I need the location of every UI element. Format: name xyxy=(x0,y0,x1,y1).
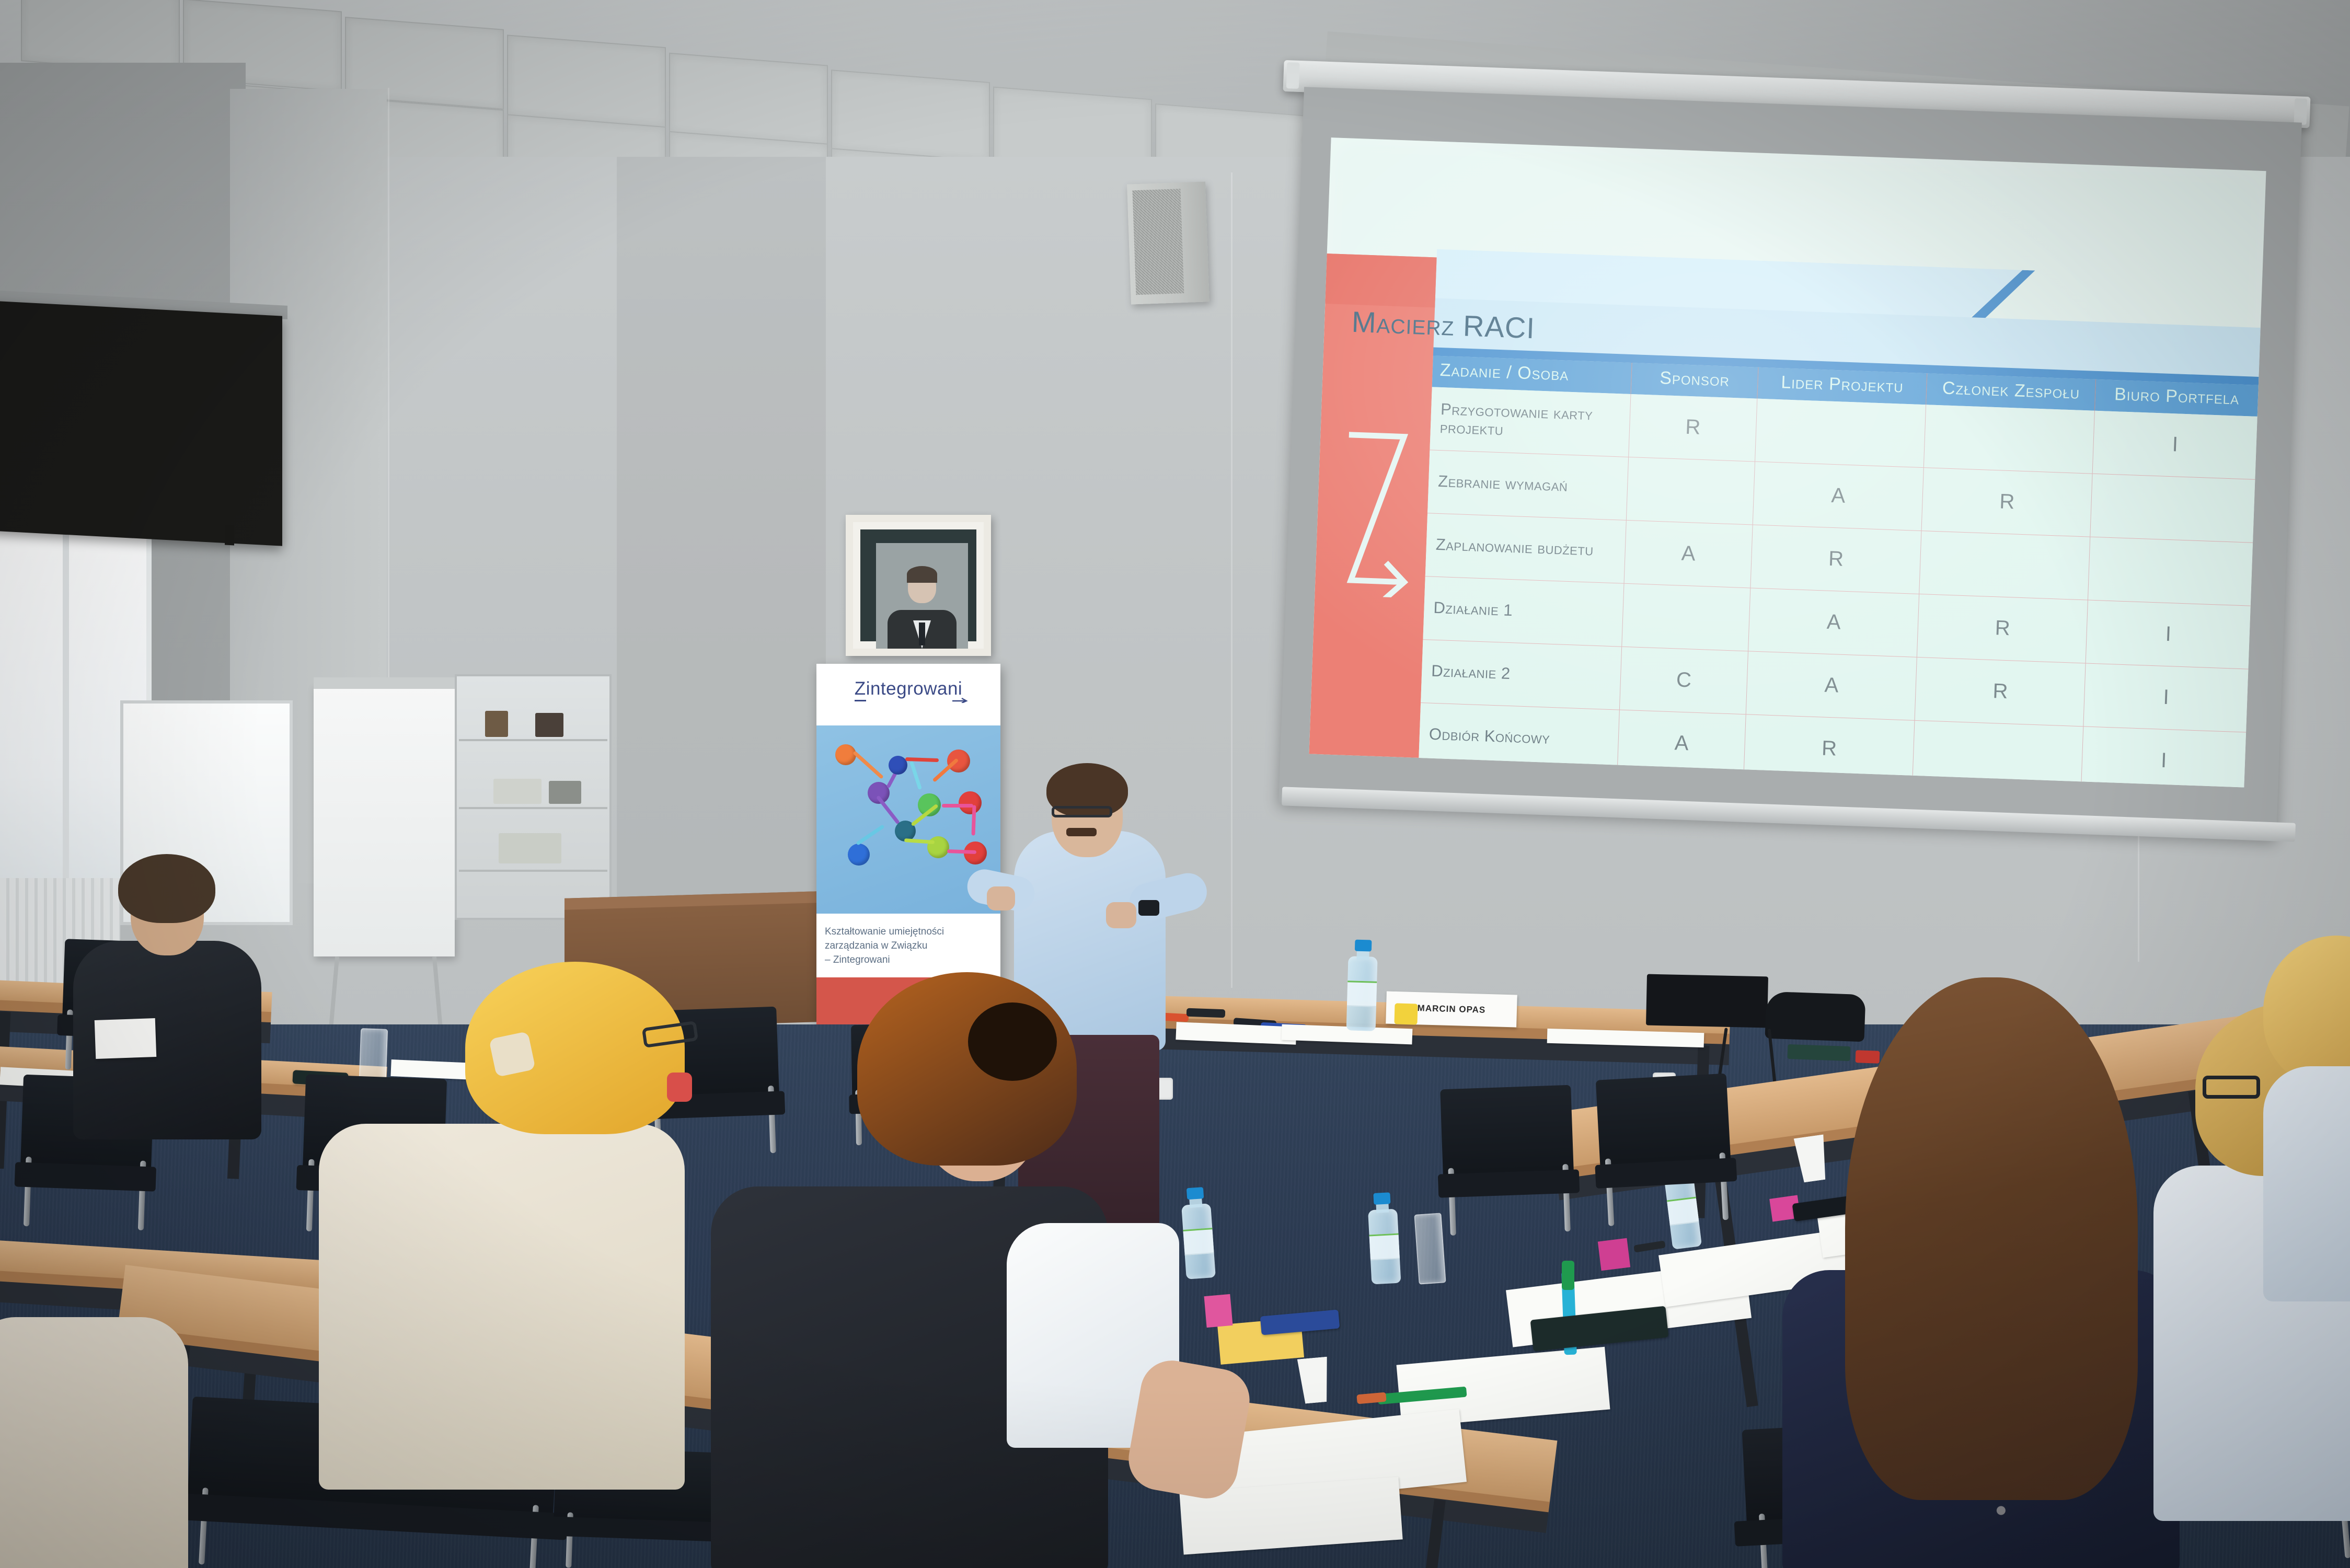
cell xyxy=(2088,537,2253,606)
hair-bun xyxy=(968,1002,1057,1081)
cabinet-item xyxy=(499,833,561,863)
attendee-hair xyxy=(2263,936,2350,1087)
banner-arrow-icon xyxy=(952,696,968,702)
cell xyxy=(1924,405,2095,474)
person-attendee-right-blonde xyxy=(2263,936,2350,1301)
meeting-room-photo: Macierz RACI Zadanie / Osoba Sponsor Lid… xyxy=(0,0,2350,1568)
laptop[interactable] xyxy=(1646,974,1768,1028)
flipchart-easel xyxy=(314,685,455,956)
projected-slide: Macierz RACI Zadanie / Osoba Sponsor Lid… xyxy=(1309,137,2266,787)
row-label: Odbiór Końcowy xyxy=(1419,702,1620,773)
cell: R xyxy=(1915,657,2086,726)
glass-display-cabinet[interactable] xyxy=(455,674,612,920)
person-foreground-partial xyxy=(0,1317,188,1568)
cell: R xyxy=(1750,525,1921,594)
z-logo-icon xyxy=(1337,423,1416,598)
cell: R xyxy=(1917,594,2088,663)
chair[interactable] xyxy=(1596,1074,1734,1227)
cell: A xyxy=(1753,462,1923,531)
attendee-hair xyxy=(118,854,215,923)
slide-title: Macierz RACI xyxy=(1351,305,1536,345)
chair[interactable] xyxy=(1440,1085,1576,1236)
framed-portrait xyxy=(846,515,991,656)
banner-tagline-line3: – Zintegrowani xyxy=(825,953,995,967)
cell: A xyxy=(1748,588,1919,657)
red-nails xyxy=(667,1073,692,1102)
cell xyxy=(1622,583,1750,651)
blackout-blind[interactable] xyxy=(0,301,282,546)
banner-logo-rest: integrowani xyxy=(866,678,963,699)
cabinet-plaque xyxy=(493,779,542,804)
sticky-note[interactable] xyxy=(1598,1238,1630,1271)
column-header-sponsor: Sponsor xyxy=(1631,363,1758,398)
wall-shading xyxy=(617,157,826,941)
cell: C xyxy=(1619,647,1748,714)
raci-matrix-table: Zadanie / Osoba Sponsor Lider Projektu C… xyxy=(1419,355,2259,787)
banner-logo-text: Zintegrowani xyxy=(816,678,1000,699)
cell: I xyxy=(2083,663,2248,732)
cell: R xyxy=(1744,714,1915,783)
cell: R xyxy=(1629,394,1757,462)
attendee-top xyxy=(0,1317,188,1568)
wristwatch xyxy=(1138,900,1159,916)
row-label: Przygotowanie karty projektu xyxy=(1430,387,1631,457)
row-label: Działanie 1 xyxy=(1423,576,1624,647)
cell xyxy=(2090,474,2255,543)
drinking-glass[interactable] xyxy=(1414,1213,1446,1284)
slide-accent-bar-top xyxy=(1325,253,1436,307)
row-label: Zaplanowanie budżetu xyxy=(1425,513,1627,583)
cell xyxy=(1626,457,1755,525)
speaker-grille xyxy=(1132,189,1184,295)
badge xyxy=(95,1018,157,1059)
person-attendee-blonde-cream xyxy=(308,956,716,1484)
person-attendee-vest-white xyxy=(700,977,1213,1568)
presenter-moustache xyxy=(1066,828,1097,836)
cell: A xyxy=(1746,651,1917,720)
cabinet-trophy xyxy=(485,711,508,737)
glasses-icon xyxy=(2203,1076,2260,1099)
cell: I xyxy=(2086,600,2251,669)
person-attendee-left-black xyxy=(68,847,277,1139)
cell xyxy=(1755,398,1926,467)
wall-speaker xyxy=(1127,181,1209,304)
cell xyxy=(1919,531,2090,599)
cabinet-item xyxy=(549,781,581,804)
attendee-hair xyxy=(1845,977,2138,1500)
presenter-hand-left xyxy=(987,886,1015,910)
cell xyxy=(1913,720,2083,787)
cell: A xyxy=(1624,520,1753,588)
row-label: Działanie 2 xyxy=(1421,639,1622,710)
hair-clip xyxy=(489,1031,536,1077)
cell: I xyxy=(2093,410,2257,479)
glasses-icon xyxy=(1052,806,1112,817)
projection-screen: Macierz RACI Zadanie / Osoba Sponsor Lid… xyxy=(1278,87,2302,838)
cell: I xyxy=(2081,727,2246,788)
marker-pen[interactable] xyxy=(1562,1261,1574,1290)
banner-tagline-line2: zarządzania w Związku xyxy=(825,939,995,953)
cell: A xyxy=(1617,710,1746,777)
banner-tagline-line1: Kształtowanie umiejętności xyxy=(825,925,995,939)
wall-seam xyxy=(1231,172,1232,988)
row-label: Zebranie wymagań xyxy=(1427,450,1629,521)
attendee-top xyxy=(2263,1066,2350,1301)
attendee-top xyxy=(319,1124,685,1490)
water-bottle[interactable] xyxy=(1367,1194,1401,1285)
presenter-hand xyxy=(1106,902,1136,928)
blind-pull-cord[interactable] xyxy=(225,525,234,546)
cabinet-figurine xyxy=(535,713,563,737)
water-bottle[interactable] xyxy=(1346,941,1378,1031)
banner-logo-initial: Z xyxy=(855,678,866,701)
cell: R xyxy=(1921,467,2092,536)
yellow-object xyxy=(1394,1003,1418,1024)
column-header-portfolio-office: Biuro Portfela xyxy=(2095,379,2259,417)
banner-tagline: Kształtowanie umiejętności zarządzania w… xyxy=(825,925,995,967)
